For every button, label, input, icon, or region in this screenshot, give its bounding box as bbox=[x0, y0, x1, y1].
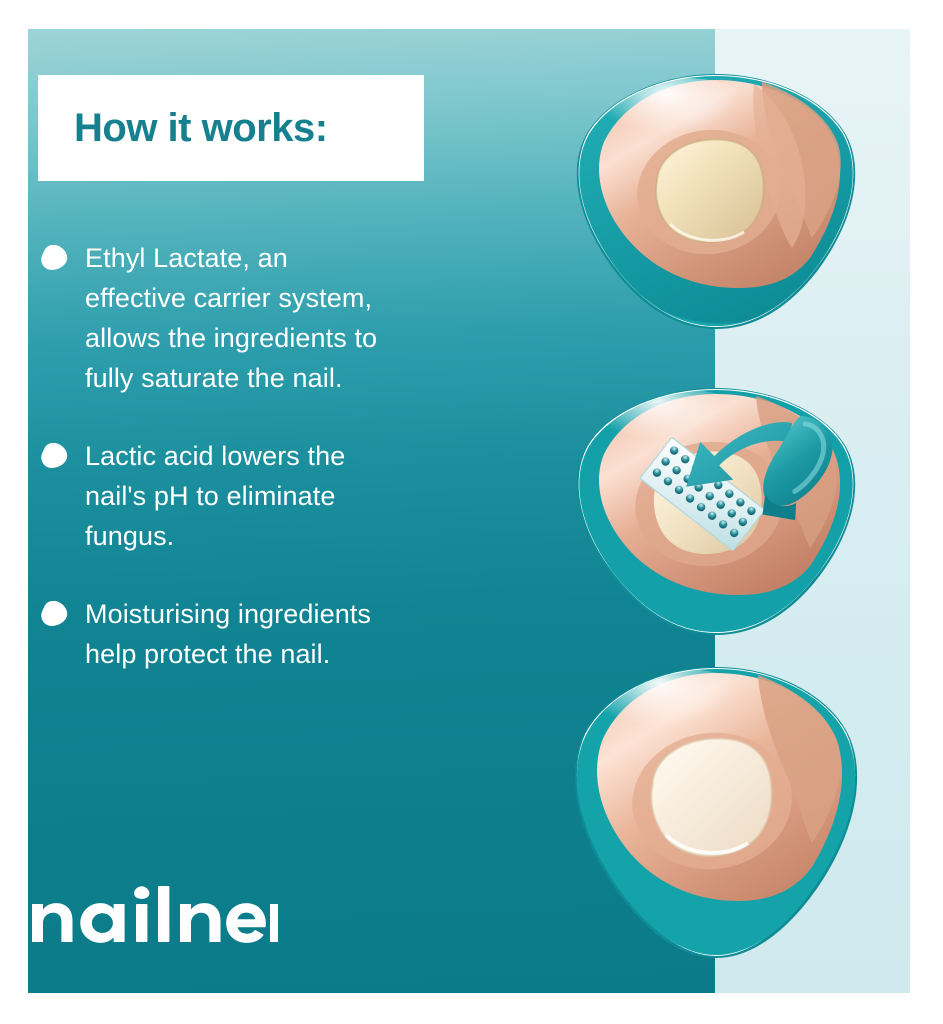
nailner-wordmark-icon bbox=[28, 884, 278, 946]
illustration-toe-applying-solution bbox=[566, 386, 866, 636]
list-item: Ethyl Lactate, an effective carrier syst… bbox=[40, 238, 510, 398]
rounded-triangle-bullet-icon bbox=[40, 600, 69, 629]
illustration-toe-before-treatment bbox=[566, 72, 866, 330]
list-item-label: Moisturising ingredients help protect th… bbox=[85, 594, 371, 674]
list-item-label: Lactic acid lowers the nail's pH to elim… bbox=[85, 436, 345, 556]
rounded-triangle-bullet-icon bbox=[40, 442, 69, 471]
poster-canvas: How it works: Ethyl Lactate, an effectiv… bbox=[0, 0, 943, 1024]
page-title: How it works: bbox=[74, 108, 328, 148]
list-item: Lactic acid lowers the nail's pH to elim… bbox=[40, 436, 510, 556]
list-item: Moisturising ingredients help protect th… bbox=[40, 594, 510, 674]
title-box: How it works: bbox=[38, 75, 424, 181]
benefits-list: Ethyl Lactate, an effective carrier syst… bbox=[40, 238, 510, 712]
rounded-triangle-bullet-icon bbox=[40, 244, 69, 273]
illustration-toe-after-treatment bbox=[566, 665, 866, 961]
list-item-label: Ethyl Lactate, an effective carrier syst… bbox=[85, 238, 377, 398]
brand-logo bbox=[28, 884, 278, 946]
